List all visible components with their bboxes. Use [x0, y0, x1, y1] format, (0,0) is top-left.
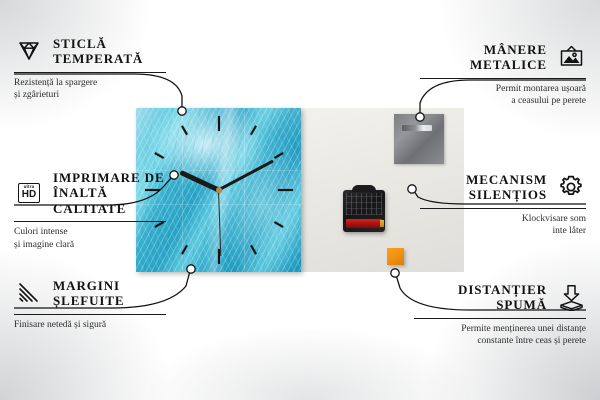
callout-desc-metal-handles: Permit montarea ușoară a ceasului pe per…: [420, 83, 586, 109]
callout-desc-print: Culori intense și imagine clară: [14, 226, 166, 252]
callout-header-edges: MARGINI ȘLEFUITE: [14, 278, 166, 309]
callout-foam-spacer: DISTANȚIER SPUMĂ Permite menținerea unei…: [414, 282, 586, 348]
callout-header-silent-mechanism: MECANISM SILENȚIOS: [420, 172, 586, 203]
battery: [346, 219, 382, 228]
callout-title-metal-handles: MÂNERE METALICE: [470, 42, 547, 73]
callout-header-metal-handles: MÂNERE METALICE: [420, 42, 586, 73]
product-feature-infographic: STICLĂ TEMPERATĂ Rezistență la spargere …: [0, 0, 600, 400]
battery-terminal: [380, 220, 384, 227]
title-line-2: TEMPERATĂ: [53, 51, 143, 66]
title-line-1: STICLĂ: [53, 36, 107, 51]
product-photo: [136, 108, 464, 272]
callout-rule-metal-handles: [420, 78, 586, 79]
down-arrow-pad-icon: [556, 283, 586, 311]
desc-line-2: și zgârieturi: [14, 90, 59, 100]
callout-desc-silent-mechanism: Klockvisare som inte låter: [420, 213, 586, 239]
desc-line-2: și imagine clară: [14, 240, 74, 250]
title-line-2: SPUMĂ: [496, 297, 547, 312]
hour-tick: [218, 116, 220, 190]
desc-line-1: Permite menținerea unei distanțe: [461, 324, 586, 334]
callout-silent-mechanism: MECANISM SILENȚIOS Klockvisare som inte …: [420, 172, 586, 238]
title-line-1: IMPRIMARE DE: [53, 170, 165, 185]
callout-tempered-glass: STICLĂ TEMPERATĂ Rezistență la spargere …: [14, 36, 166, 102]
desc-line-2: a ceasului pe perete: [511, 96, 586, 106]
hand-center-cap: [216, 187, 222, 193]
desc-line-1: Finisare netedă și sigură: [14, 320, 106, 330]
callout-polished-edges: MARGINI ȘLEFUITE Finisare netedă și sigu…: [14, 278, 166, 331]
hanger-slot: [402, 125, 432, 131]
callout-rule-edges: [14, 314, 166, 315]
title-line-1: DISTANȚIER: [458, 282, 547, 297]
hour-tick: [219, 189, 293, 191]
gear-icon: [556, 173, 586, 201]
movement-vents: [346, 193, 382, 215]
desc-line-1: Klockvisare som: [522, 214, 586, 224]
metal-hanger-plate: [394, 114, 444, 164]
title-line-2: SILENȚIOS: [469, 187, 547, 202]
foam-spacer-pad: [387, 248, 404, 265]
desc-line-1: Permit montarea ușoară: [496, 84, 586, 94]
callout-title-tempered-glass: STICLĂ TEMPERATĂ: [53, 36, 143, 67]
title-line-2: ȘLEFUITE: [53, 293, 125, 308]
desc-line-1: Culori intense: [14, 227, 68, 237]
callout-title-edges: MARGINI ȘLEFUITE: [53, 278, 125, 309]
title-line-1: MECANISM: [466, 172, 547, 187]
ultra-hd-main-label: HD: [22, 190, 36, 200]
callout-rule-print: [14, 221, 166, 222]
callout-title-foam-spacer: DISTANȚIER SPUMĂ: [458, 282, 547, 313]
callout-rule-silent-mechanism: [420, 208, 586, 209]
title-line-1: MARGINI: [53, 278, 120, 293]
callout-desc-tempered-glass: Rezistență la spargere și zgârieturi: [14, 77, 166, 103]
callout-title-silent-mechanism: MECANISM SILENȚIOS: [466, 172, 547, 203]
callout-metal-handles: MÂNERE METALICE Permit montarea ușoară a…: [420, 42, 586, 108]
picture-frame-icon: [556, 43, 586, 71]
desc-line-1: Rezistență la spargere: [14, 78, 97, 88]
callout-header-tempered-glass: STICLĂ TEMPERATĂ: [14, 36, 166, 67]
callout-high-quality-print: ultra HD IMPRIMARE DE ÎNALTĂ CALITATE Cu…: [14, 170, 166, 252]
desc-line-2: inte låter: [553, 226, 587, 236]
clock-movement: [343, 190, 385, 232]
callout-rule-tempered-glass: [14, 72, 166, 73]
callout-desc-edges: Finisare netedă și sigură: [14, 319, 166, 332]
title-line-2: ÎNALTĂ CALITATE: [53, 185, 126, 215]
diamond-icon: [14, 37, 44, 65]
callout-rule-foam-spacer: [414, 318, 586, 319]
callout-desc-foam-spacer: Permite menținerea unei distanțe constan…: [414, 323, 586, 349]
callout-title-print: IMPRIMARE DE ÎNALTĂ CALITATE: [53, 170, 166, 216]
title-line-2: METALICE: [470, 57, 547, 72]
desc-line-2: constante între ceas și perete: [477, 336, 586, 346]
callout-header-foam-spacer: DISTANȚIER SPUMĂ: [414, 282, 586, 313]
callout-header-print: ultra HD IMPRIMARE DE ÎNALTĂ CALITATE: [14, 170, 166, 216]
title-line-1: MÂNERE: [484, 42, 547, 57]
ultra-hd-badge: ultra HD: [18, 183, 40, 203]
diagonal-lines-icon: [14, 279, 44, 307]
ultra-hd-icon: ultra HD: [14, 179, 44, 207]
movement-hook: [352, 185, 376, 192]
